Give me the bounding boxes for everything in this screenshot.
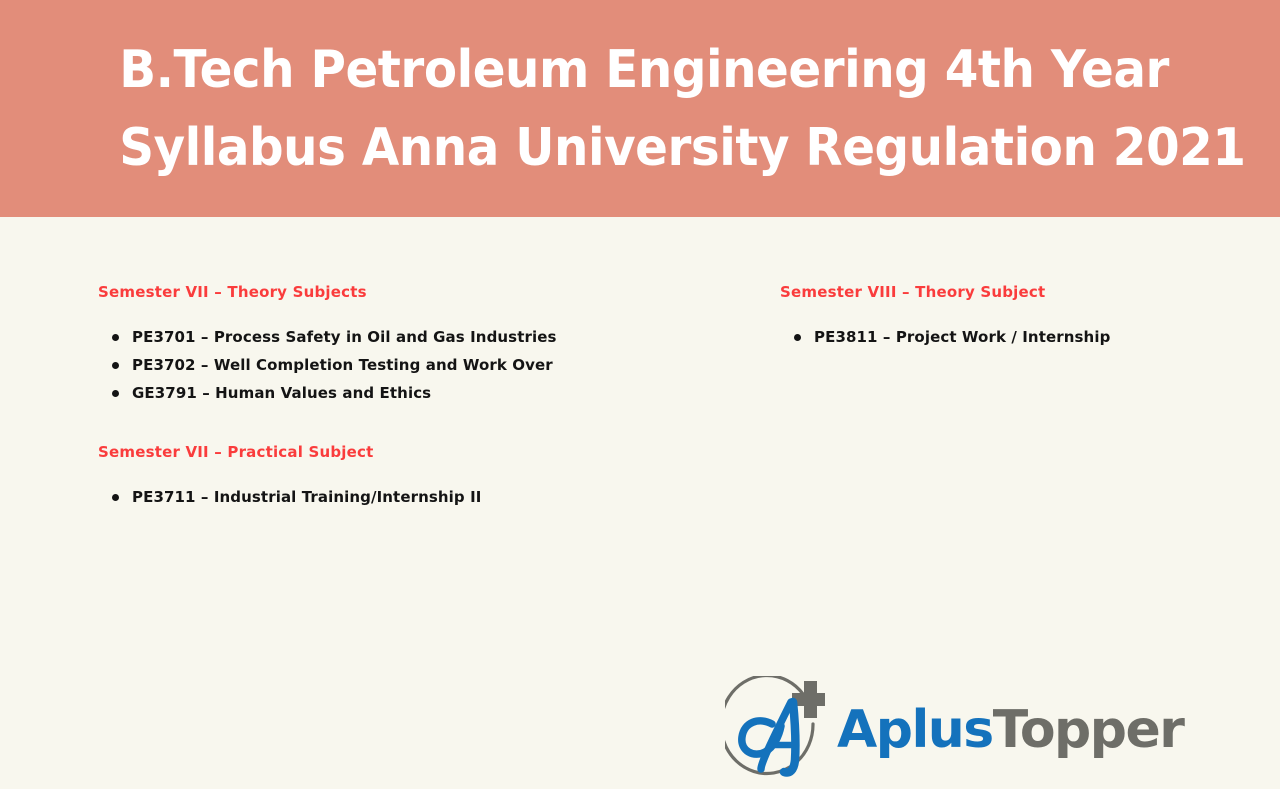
brand-logo: AplusTopper	[725, 675, 1157, 785]
header-banner: B.Tech Petroleum Engineering 4th Year Sy…	[0, 0, 1280, 217]
right-column: Semester VIII – Theory Subject PE3811 – …	[780, 281, 1200, 351]
logo-wordmark: AplusTopper	[837, 704, 1183, 756]
list-item: PE3711 – Industrial Training/Internship …	[98, 483, 698, 511]
content-area: Semester VII – Theory Subjects PE3701 – …	[0, 217, 1280, 720]
section-heading-semester-vii-theory: Semester VII – Theory Subjects	[98, 281, 698, 303]
section-divider-spacer	[98, 407, 698, 441]
page-title: B.Tech Petroleum Engineering 4th Year Sy…	[119, 31, 1161, 187]
list-item: PE3702 – Well Completion Testing and Wor…	[98, 351, 698, 379]
syllabus-infographic: B.Tech Petroleum Engineering 4th Year Sy…	[0, 0, 1280, 720]
section-heading-semester-viii-theory: Semester VIII – Theory Subject	[780, 281, 1200, 303]
section-semester-vii-practical: Semester VII – Practical Subject PE3711 …	[98, 441, 698, 511]
page-title-line-1: B.Tech Petroleum Engineering 4th Year	[119, 31, 1161, 109]
section-semester-vii-theory: Semester VII – Theory Subjects PE3701 – …	[98, 281, 698, 407]
subject-list-semester-vii-practical: PE3711 – Industrial Training/Internship …	[98, 483, 698, 511]
subject-list-semester-viii-theory: PE3811 – Project Work / Internship	[780, 323, 1200, 351]
list-item: PE3811 – Project Work / Internship	[780, 323, 1200, 351]
page-title-line-2: Syllabus Anna University Regulation 2021	[119, 109, 1161, 187]
left-column: Semester VII – Theory Subjects PE3701 – …	[98, 281, 698, 511]
aplustopper-mark-icon	[725, 676, 825, 784]
section-heading-semester-vii-practical: Semester VII – Practical Subject	[98, 441, 698, 463]
logo-word-topper: Topper	[993, 700, 1184, 760]
section-semester-viii-theory: Semester VIII – Theory Subject PE3811 – …	[780, 281, 1200, 351]
logo-word-aplus: Aplus	[837, 700, 993, 760]
list-item: GE3791 – Human Values and Ethics	[98, 379, 698, 407]
subject-list-semester-vii-theory: PE3701 – Process Safety in Oil and Gas I…	[98, 323, 698, 407]
list-item: PE3701 – Process Safety in Oil and Gas I…	[98, 323, 698, 351]
